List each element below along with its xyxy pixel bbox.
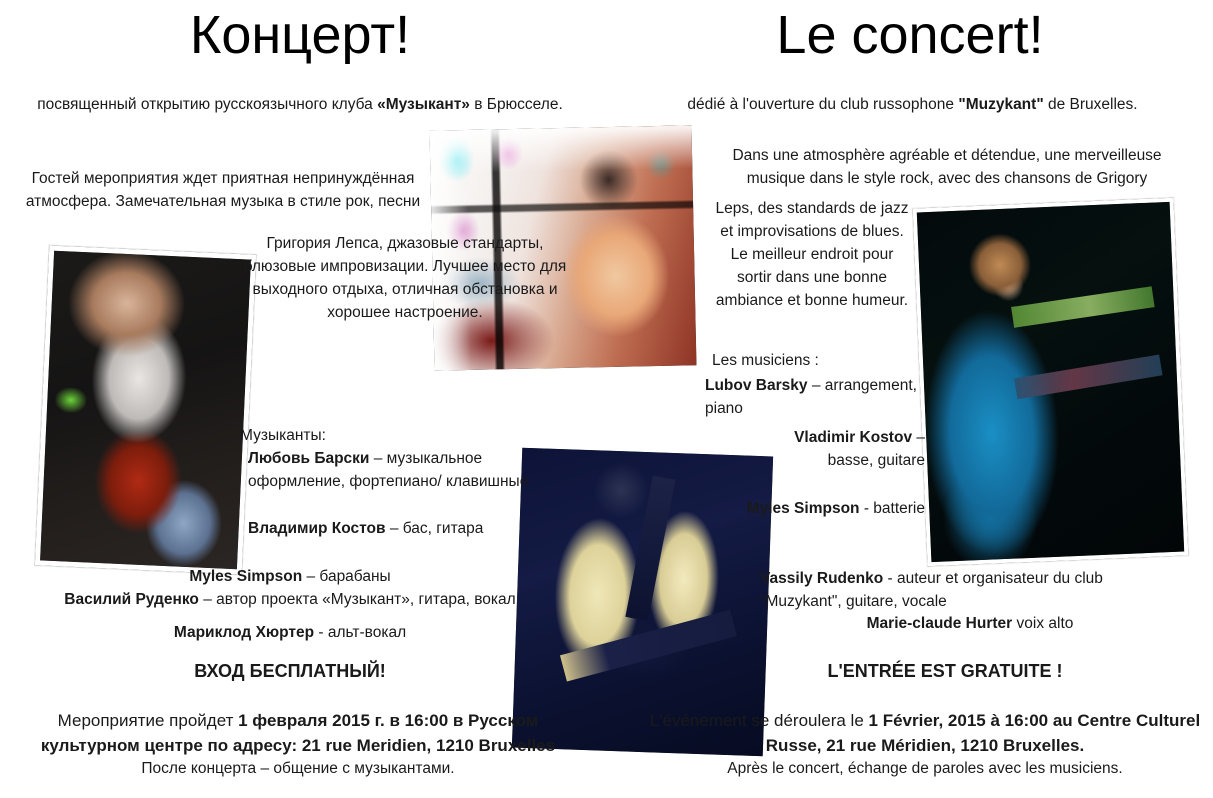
musician-name: Marie-claude Hurter bbox=[867, 615, 1013, 632]
musician-role: – бас, гитара bbox=[390, 520, 484, 537]
free-entry-notice-french: L'ENTRÉE EST GRATUITE ! bbox=[690, 658, 1200, 685]
pianist-photo bbox=[913, 198, 1189, 567]
event-details-french-prefix: L'événement se déroulera le bbox=[650, 711, 869, 730]
musician-name: Мариклод Хюртер bbox=[174, 624, 314, 641]
musician-name: Vladimir Kostov bbox=[794, 429, 912, 446]
body-paragraph-russian-1: Гостей мероприятия ждет приятная неприну… bbox=[8, 168, 438, 214]
free-entry-notice-russian: ВХОД БЕСПЛАТНЫЙ! bbox=[30, 658, 550, 685]
club-name-russian: «Музыкант» bbox=[377, 96, 470, 113]
musician-name: Myles Simpson bbox=[189, 568, 302, 585]
musician-entry-french-3: Myles Simpson - batterie bbox=[745, 498, 925, 521]
musician-name: Vassily Rudenko bbox=[760, 570, 883, 587]
musician-entry-russian-5: Мариклод Хюртер - альт-вокал bbox=[30, 622, 550, 645]
page-title-french: Le concert! bbox=[610, 8, 1210, 62]
musician-entry-french-1: Lubov Barsky – arrangement, piano bbox=[705, 375, 920, 421]
subtitle-french-part2: de Bruxelles. bbox=[1044, 96, 1138, 113]
musician-role: - batterie bbox=[860, 500, 925, 517]
musician-name: Василий Руденко bbox=[64, 591, 199, 608]
body-paragraph-russian-2: Григория Лепса, джазовые стандарты, блюз… bbox=[240, 233, 570, 325]
subtitle-french: dédié à l'ouverture du club russophone "… bbox=[620, 94, 1205, 117]
subtitle-french-part1: dédié à l'ouverture du club russophone bbox=[687, 96, 958, 113]
club-name-french: "Muzykant" bbox=[958, 96, 1043, 113]
musician-name: Myles Simpson bbox=[747, 500, 860, 517]
event-details-french: L'événement se déroulera le 1 Février, 2… bbox=[640, 708, 1210, 758]
musicians-heading-russian: Музыканты: bbox=[240, 425, 540, 448]
musician-role: – барабаны bbox=[302, 568, 390, 585]
after-concert-note-french: Après le concert, échange de paroles ave… bbox=[640, 758, 1210, 781]
subtitle-russian: посвященный открытию русскоязычного клуб… bbox=[10, 94, 590, 117]
musician-entry-russian-1: Любовь Барски – музыкальное оформление, … bbox=[248, 448, 538, 494]
subtitle-russian-part1: посвященный открытию русскоязычного клуб… bbox=[37, 96, 377, 113]
musician-role: - альт-вокал bbox=[314, 624, 406, 641]
musician-name: Владимир Костов bbox=[248, 520, 390, 537]
musicians-heading-french: Les musiciens : bbox=[712, 350, 922, 373]
musician-entry-russian-4: Василий Руденко – автор проекта «Музыкан… bbox=[30, 589, 550, 612]
musician-entry-french-4: Vassily Rudenko - auteur et organisateur… bbox=[760, 568, 1180, 614]
subtitle-russian-part2: в Брюсселе. bbox=[470, 96, 563, 113]
event-details-russian: Мероприятие пройдет 1 февраля 2015 г. в … bbox=[8, 708, 588, 758]
after-concert-note-russian: После концерта – общение с музыкантами. bbox=[8, 758, 588, 781]
musician-name: Любовь Барски bbox=[248, 450, 369, 467]
musician-entry-french-5: Marie-claude Hurter voix alto bbox=[760, 613, 1180, 636]
page-title-russian: Концерт! bbox=[0, 8, 600, 62]
musician-entry-russian-2: Владимир Костов – бас, гитара bbox=[248, 518, 538, 541]
musician-name: Lubov Barsky bbox=[705, 377, 808, 394]
musician-entry-russian-3: Myles Simpson – барабаны bbox=[30, 566, 550, 589]
musician-role: – автор проекта «Музыкант», гитара, вока… bbox=[199, 591, 516, 608]
body-paragraph-french-1: Dans une atmosphère agréable et détendue… bbox=[712, 145, 1182, 191]
musician-role: voix alto bbox=[1012, 615, 1073, 632]
body-paragraph-french-2: Leps, des standards de jazz et improvisa… bbox=[712, 198, 912, 313]
musician-entry-french-2: Vladimir Kostov – basse, guitare bbox=[745, 427, 925, 473]
concert-poster: Концерт! Le concert! посвященный открыти… bbox=[0, 0, 1213, 798]
event-details-russian-prefix: Мероприятие пройдет bbox=[58, 711, 238, 730]
guitarist-on-stage-photo bbox=[35, 245, 256, 574]
